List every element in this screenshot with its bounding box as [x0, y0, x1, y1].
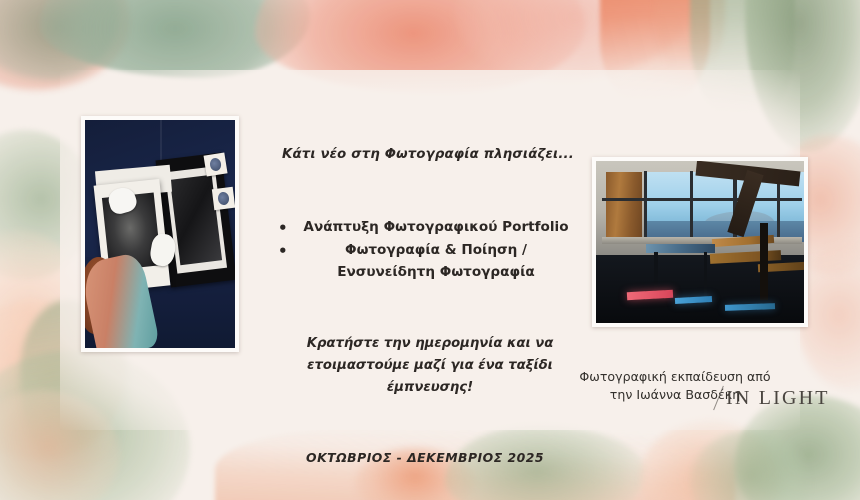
watercolor-top-left-pink [0, 0, 130, 90]
bullet-text-2-line-1: Φωτογραφία & Ποίηση / [345, 242, 527, 258]
list-item: Ανάπτυξη Φωτογραφικού Portfolio [262, 216, 592, 238]
date-range: ΟΚΤΩΒΡΙΟΣ - ΔΕΚΕΜΒΡΙΟΣ 2025 [290, 450, 560, 465]
brand-logo: IN LIGHT [718, 385, 830, 411]
photo-right-image [596, 161, 804, 323]
watercolor-bottom-band [215, 430, 735, 500]
watercolor-top-center-pink [255, 0, 585, 94]
window-transom [602, 198, 802, 201]
photo-left [81, 116, 239, 352]
blue-light-reflection-2 [725, 303, 775, 311]
list-item: Φωτογραφία & Ποίηση / Ενσυνείδητη Φωτογρ… [262, 239, 592, 283]
watercolor-top-right-green [690, 0, 795, 124]
watercolor-left-peach [0, 230, 90, 400]
watercolor-left-sage [0, 130, 94, 280]
tagline-line-1: Κρατήστε την ημερομηνία και να [285, 333, 575, 355]
bullet-text-1: Ανάπτυξη Φωτογραφικού Portfolio [303, 219, 568, 235]
photo-right [592, 157, 808, 327]
tagline: Κρατήστε την ημερομηνία και να ετοιμαστο… [285, 333, 575, 400]
small-print-card-2 [211, 187, 234, 210]
watercolor-top-right-orange [600, 0, 710, 108]
watercolor-bottom-left-peach-2 [0, 390, 120, 500]
credit-line-1: Φωτογραφική εκπαίδευση από [575, 368, 775, 386]
poster-canvas: Κάτι νέο στη Φωτογραφία πλησιάζει... Ανά… [0, 0, 860, 500]
watercolor-bottom-left-sage [0, 350, 190, 500]
window-curtain [606, 172, 641, 238]
table-leg-right [704, 252, 707, 297]
brand-name: IN LIGHT [726, 387, 830, 410]
small-print-image-1 [209, 157, 222, 172]
window-mullion-1 [644, 171, 647, 242]
watercolor-top-center-pink-2 [455, 0, 695, 80]
small-print-card-1 [204, 153, 228, 177]
window-mullion-2 [690, 171, 693, 242]
frame-mat [165, 167, 227, 274]
watercolor-top-right-green-2 [745, 0, 860, 152]
tagline-line-2: ετοιμαστούμε μαζί για ένα ταξίδι [285, 355, 575, 377]
watercolor-top-right-orange-2 [655, 0, 725, 80]
watercolor-top-green-band [40, 0, 310, 78]
photo-left-image [85, 120, 235, 348]
watercolor-top-left-green [0, 0, 120, 80]
tagline-line-3: έμπνευσης! [285, 377, 575, 399]
watercolor-bottom-right-green-2 [690, 430, 810, 500]
support-post [760, 223, 767, 301]
headline: Κάτι νέο στη Φωτογραφία πλησιάζει... [278, 147, 578, 162]
bullet-text-2-line-2: Ενσυνείδητη Φωτογραφία [280, 261, 592, 283]
watercolor-bottom-right-peach [640, 420, 780, 500]
bullet-list: Ανάπτυξη Φωτογραφικού Portfolio Φωτογραφ… [262, 216, 592, 283]
small-print-image-2 [217, 191, 229, 205]
